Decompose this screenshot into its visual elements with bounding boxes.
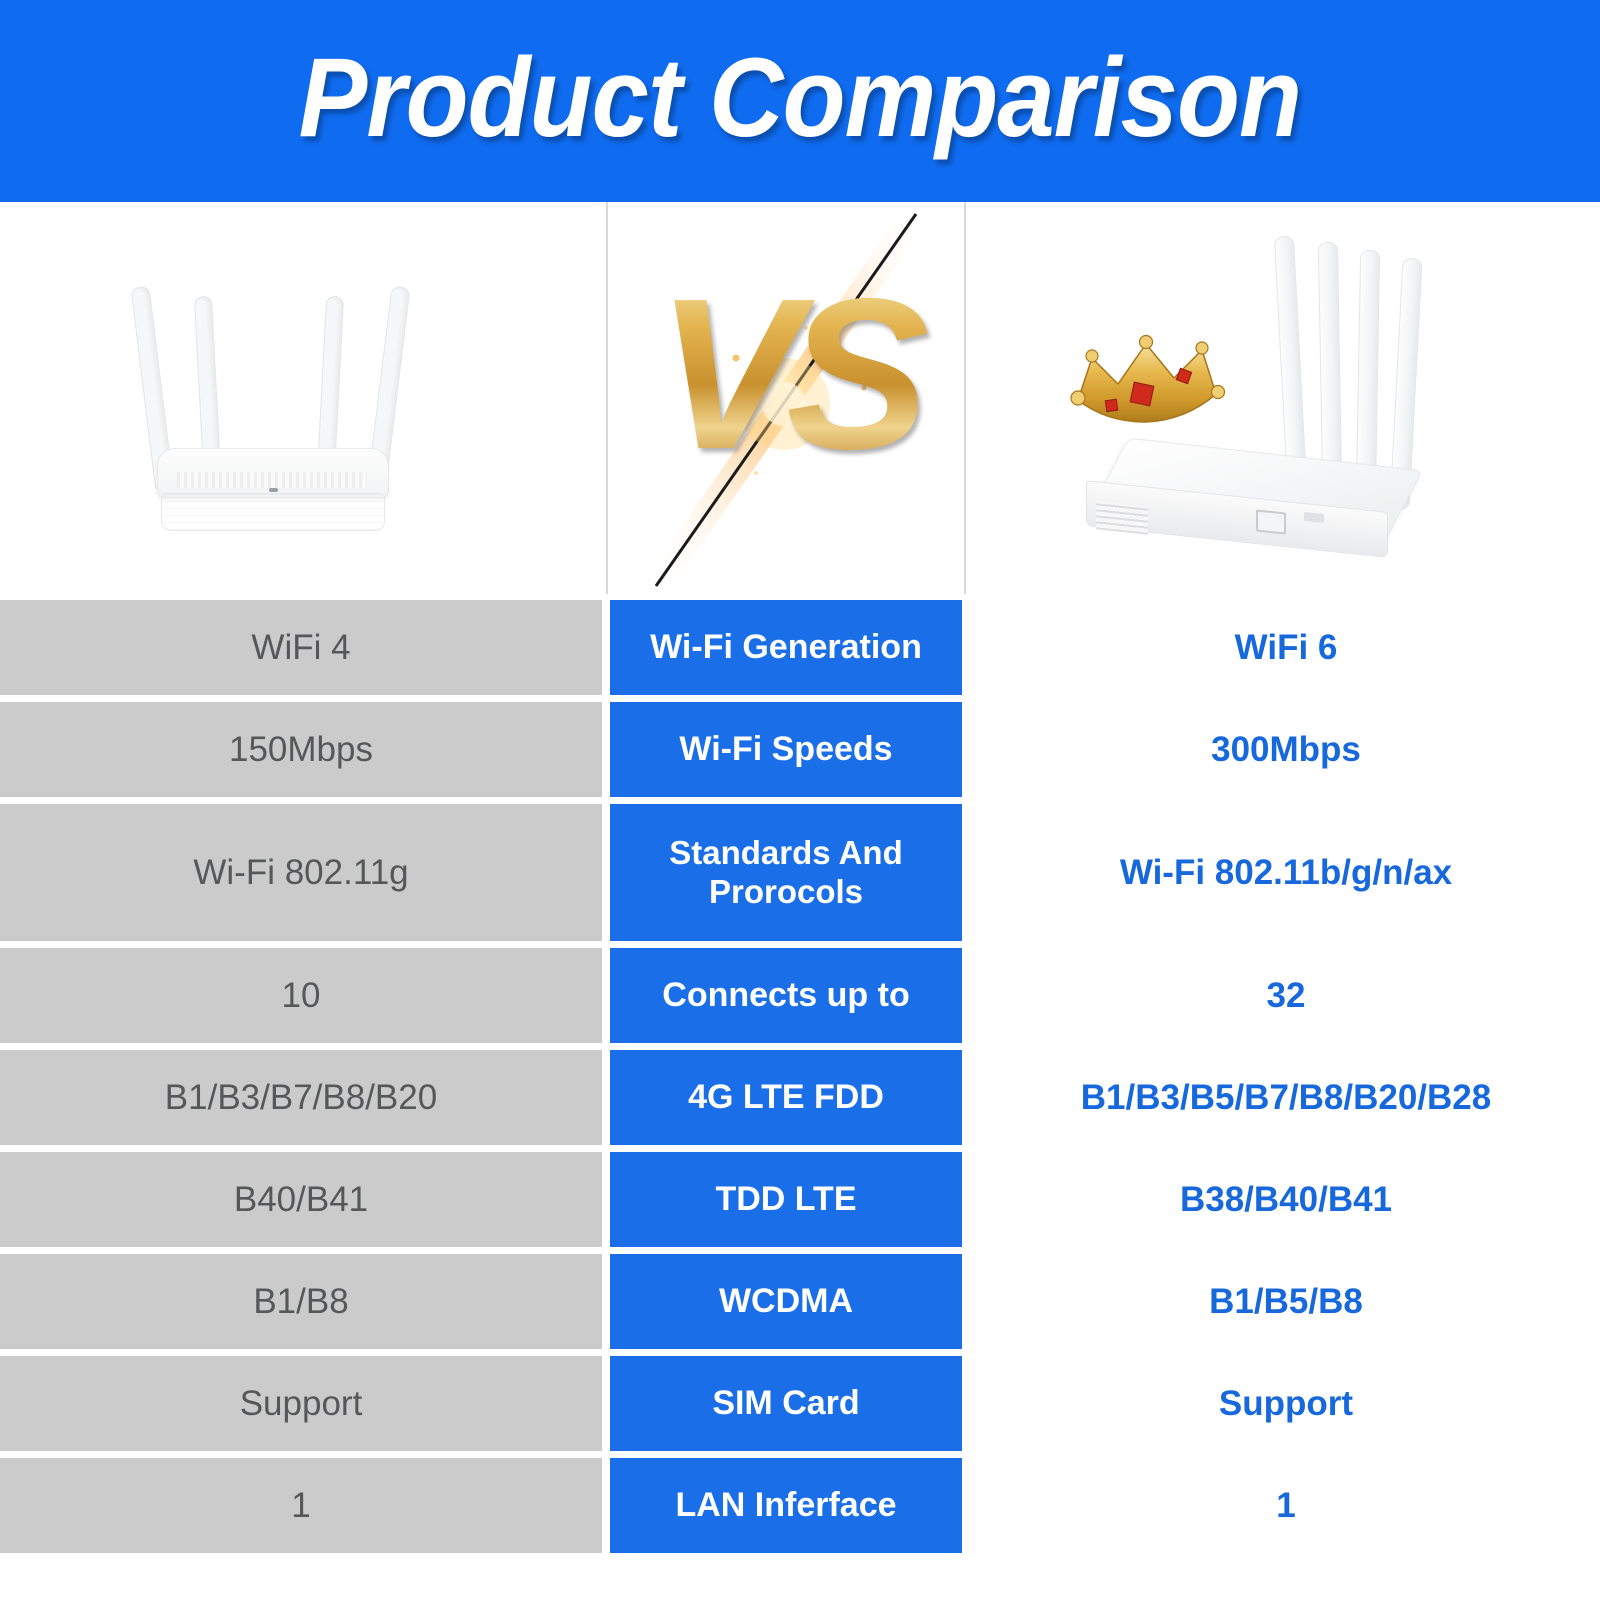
right-product-value: WiFi 6 <box>972 600 1600 695</box>
spec-label: TDD LTE <box>610 1152 962 1247</box>
router-base <box>161 493 385 531</box>
spec-label: 4G LTE FDD <box>610 1050 962 1145</box>
versus-label: VS <box>616 266 956 481</box>
left-product-value: WiFi 4 <box>0 600 602 695</box>
right-product-image-cell <box>966 202 1600 594</box>
versus-cell: VS <box>606 202 966 594</box>
right-product-value: 300Mbps <box>972 702 1600 797</box>
router-vent <box>1096 501 1148 534</box>
spec-label: WCDMA <box>610 1254 962 1349</box>
comparison-table: WiFi 4Wi-Fi GenerationWiFi 6150MbpsWi-Fi… <box>0 600 1600 1560</box>
header-banner: Product Comparison <box>0 0 1600 202</box>
product-comparison-page: Product Comparison <box>0 0 1600 1600</box>
right-product-value: B1/B5/B8 <box>972 1254 1600 1349</box>
table-row: SupportSIM CardSupport <box>0 1356 1600 1451</box>
router-led-icon <box>269 488 278 492</box>
left-product-value: 1 <box>0 1458 602 1553</box>
left-product-value: B1/B8 <box>0 1254 602 1349</box>
right-product-value: Wi-Fi 802.11b/g/n/ax <box>972 804 1600 941</box>
wifi4-router-image <box>91 248 511 548</box>
product-image-row: VS <box>0 202 1600 594</box>
left-product-value: B1/B3/B7/B8/B20 <box>0 1050 602 1145</box>
table-row: WiFi 4Wi-Fi GenerationWiFi 6 <box>0 600 1600 695</box>
right-product-value: Support <box>972 1356 1600 1451</box>
table-row: 150MbpsWi-Fi Speeds300Mbps <box>0 702 1600 797</box>
left-product-value: Support <box>0 1356 602 1451</box>
table-row: B40/B41TDD LTEB38/B40/B41 <box>0 1152 1600 1247</box>
antenna-icon <box>1274 236 1306 471</box>
spec-label: Wi-Fi Generation <box>610 600 962 695</box>
table-row: Wi-Fi 802.11gStandards And ProrocolsWi-F… <box>0 804 1600 941</box>
wifi6-router-image <box>1048 228 1518 568</box>
antenna-icon <box>1356 250 1380 497</box>
right-product-value: 32 <box>972 948 1600 1043</box>
lan-port-icon <box>1256 509 1286 534</box>
table-row: B1/B8WCDMAB1/B5/B8 <box>0 1254 1600 1349</box>
spec-label: LAN Inferface <box>610 1458 962 1553</box>
table-row: B1/B3/B7/B8/B204G LTE FDDB1/B3/B5/B7/B8/… <box>0 1050 1600 1145</box>
router-grill <box>177 472 367 488</box>
table-row: 10Connects up to32 <box>0 948 1600 1043</box>
antenna-icon <box>1318 242 1342 484</box>
crown-icon <box>1066 328 1236 438</box>
left-product-image-cell <box>0 202 602 594</box>
spec-label: Standards And Prorocols <box>610 804 962 941</box>
page-title: Product Comparison <box>299 42 1301 160</box>
right-product-value: 1 <box>972 1458 1600 1553</box>
spec-label: Connects up to <box>610 948 962 1043</box>
versus-emblem: VS <box>616 208 956 588</box>
right-product-value: B1/B3/B5/B7/B8/B20/B28 <box>972 1050 1600 1145</box>
table-row: 1LAN Inferface1 <box>0 1458 1600 1553</box>
spec-label: SIM Card <box>610 1356 962 1451</box>
left-product-value: 150Mbps <box>0 702 602 797</box>
right-product-value: B38/B40/B41 <box>972 1152 1600 1247</box>
left-product-value: B40/B41 <box>0 1152 602 1247</box>
left-product-value: 10 <box>0 948 602 1043</box>
spec-label: Wi-Fi Speeds <box>610 702 962 797</box>
left-product-value: Wi-Fi 802.11g <box>0 804 602 941</box>
